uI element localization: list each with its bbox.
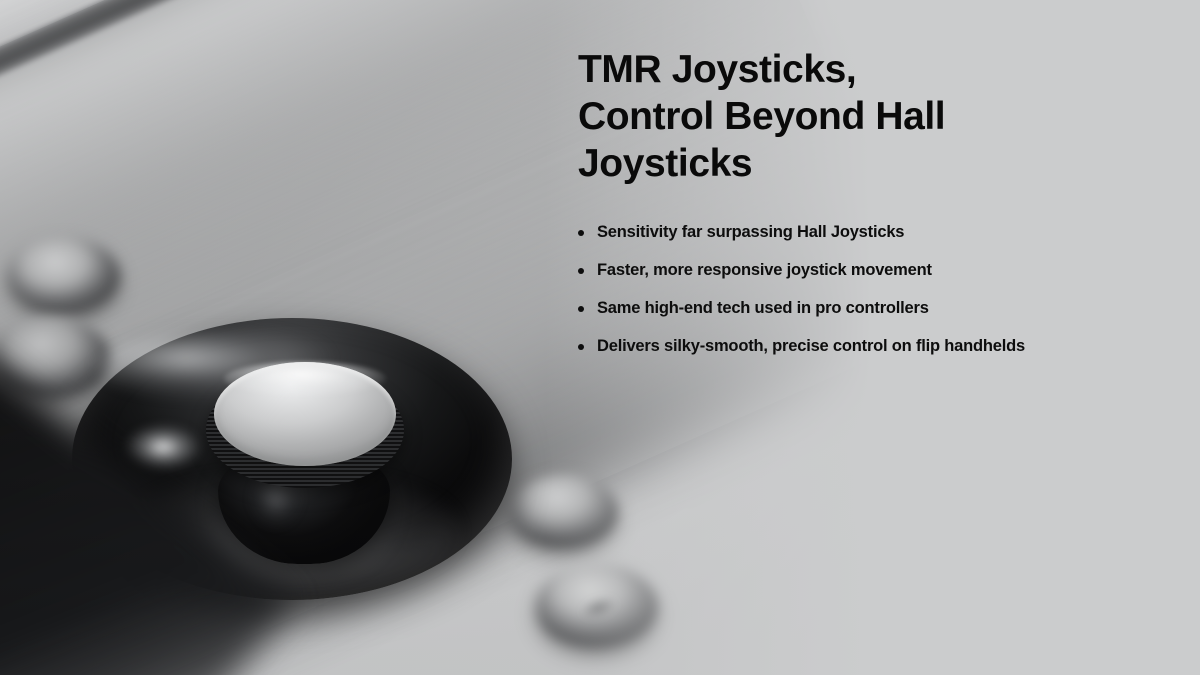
feature-list: Sensitivity far surpassing Hall Joystick… [578, 221, 1178, 358]
headline-line-1: TMR Joysticks, [578, 46, 1118, 93]
content-panel: TMR Joysticks, Control Beyond Hall Joyst… [578, 0, 1178, 675]
list-item: Faster, more responsive joystick movemen… [578, 259, 1178, 282]
headline-line-2: Control Beyond Hall [578, 93, 1118, 140]
headline-line-3: Joysticks [578, 140, 1118, 187]
bullet-dot-icon [578, 306, 584, 312]
bullet-dot-icon [578, 268, 584, 274]
list-item: Same high-end tech used in pro controlle… [578, 297, 1178, 320]
list-item-label: Delivers silky-smooth, precise control o… [597, 337, 1025, 355]
list-item-label: Same high-end tech used in pro controlle… [597, 299, 929, 317]
feature-slide: TMR Joysticks, Control Beyond Hall Joyst… [0, 0, 1200, 675]
list-item-label: Sensitivity far surpassing Hall Joystick… [597, 223, 904, 241]
page-title: TMR Joysticks, Control Beyond Hall Joyst… [578, 46, 1118, 187]
bullet-dot-icon [578, 230, 584, 236]
list-item-label: Faster, more responsive joystick movemen… [597, 261, 932, 279]
list-item: Delivers silky-smooth, precise control o… [578, 335, 1178, 358]
list-item: Sensitivity far surpassing Hall Joystick… [578, 221, 1178, 244]
bullet-dot-icon [578, 344, 584, 350]
